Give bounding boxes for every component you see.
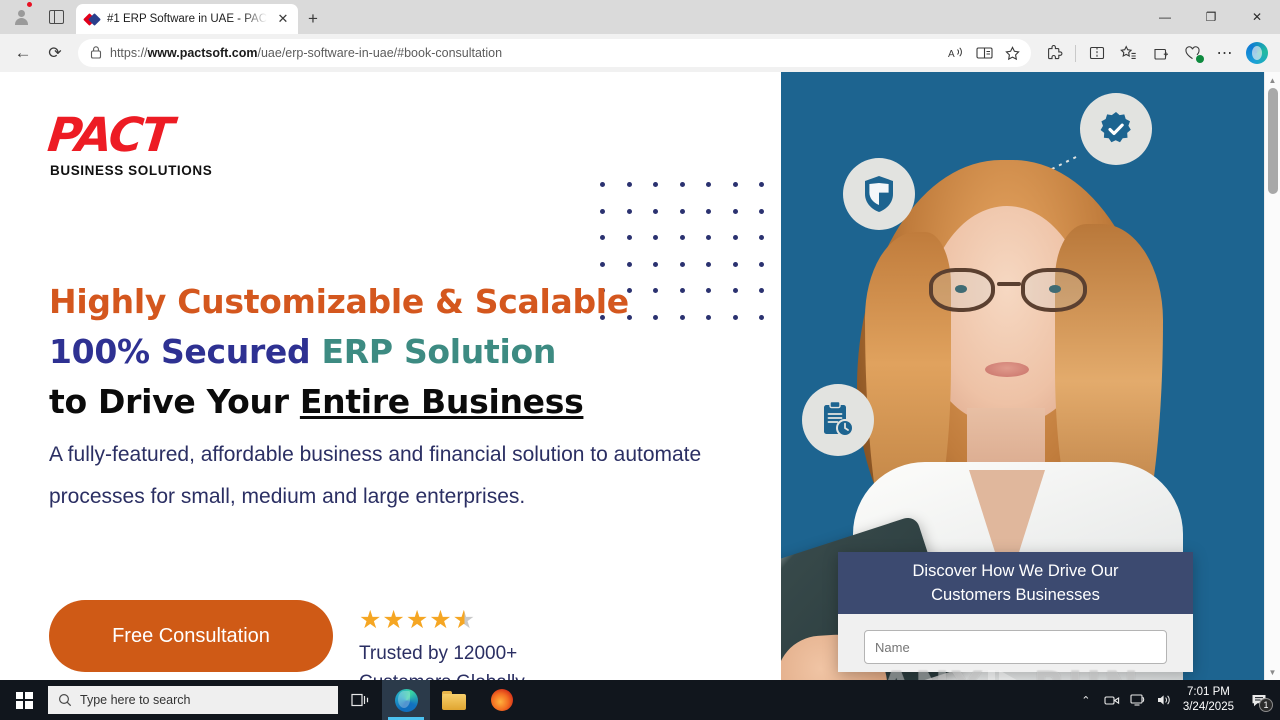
microsoft-edge-icon bbox=[395, 689, 418, 712]
headline-line-1: Highly Customizable & Scalable bbox=[49, 277, 749, 327]
settings-and-more-icon[interactable]: ⋯ bbox=[1209, 38, 1240, 68]
url-text: https://www.pactsoft.com/uae/erp-softwar… bbox=[110, 46, 935, 60]
browser-essentials-icon[interactable] bbox=[1177, 38, 1208, 68]
clock-date: 3/24/2025 bbox=[1183, 700, 1234, 715]
meet-now-icon[interactable] bbox=[1099, 680, 1125, 720]
vertical-tabs-icon bbox=[49, 10, 64, 24]
back-button[interactable]: ← bbox=[8, 38, 38, 68]
close-icon[interactable]: ✕ bbox=[274, 10, 292, 28]
scroll-down-arrow-icon[interactable]: ▼ bbox=[1265, 664, 1280, 680]
immersive-reader-icon[interactable] bbox=[971, 40, 997, 66]
tab-title: #1 ERP Software in UAE - PACT B bbox=[107, 13, 267, 25]
windows-taskbar: Type here to search ⌃ 7:01 PM 3/24/2025 … bbox=[0, 680, 1280, 720]
site-logo[interactable]: PACT BUSINESS SOLUTIONS bbox=[48, 112, 212, 178]
tab-actions-button[interactable] bbox=[40, 2, 72, 32]
show-hidden-icons-chevron[interactable]: ⌃ bbox=[1073, 680, 1099, 720]
maximize-button[interactable]: ❐ bbox=[1188, 0, 1234, 34]
overlay-card-body bbox=[838, 614, 1193, 672]
favorites-icon[interactable] bbox=[1113, 38, 1144, 68]
reload-button[interactable]: ⟳ bbox=[40, 38, 70, 68]
notification-center-button[interactable]: 1 bbox=[1242, 680, 1276, 720]
clipboard-clock-badge-icon bbox=[802, 384, 874, 456]
scroll-up-arrow-icon[interactable]: ▲ bbox=[1265, 72, 1280, 88]
consultation-overlay-card: Discover How We Drive OurCustomers Busin… bbox=[838, 552, 1193, 672]
free-consultation-button[interactable]: Free Consultation bbox=[49, 600, 333, 672]
essentials-status-dot bbox=[1196, 55, 1204, 63]
shield-badge-icon bbox=[843, 158, 915, 230]
svg-text:A: A bbox=[948, 49, 955, 60]
name-input[interactable] bbox=[864, 630, 1167, 664]
trust-text-line-2: Customers Globally bbox=[359, 668, 525, 680]
title-bar-left-controls bbox=[0, 0, 76, 34]
window-controls: — ❐ ✕ bbox=[1142, 0, 1280, 34]
profile-notification-dot bbox=[25, 0, 34, 9]
taskbar-clock[interactable]: 7:01 PM 3/24/2025 bbox=[1177, 685, 1242, 715]
rating-stars-full: ★★★★ bbox=[359, 606, 453, 634]
address-bar[interactable]: https://www.pactsoft.com/uae/erp-softwar… bbox=[78, 39, 1031, 67]
browser-toolbar: ← ⟳ https://www.pactsoft.com/uae/erp-sof… bbox=[0, 34, 1280, 72]
close-window-button[interactable]: ✕ bbox=[1234, 0, 1280, 34]
hero-headline: Highly Customizable & Scalable 100% Secu… bbox=[49, 277, 749, 427]
verified-check-badge-icon bbox=[1080, 93, 1152, 165]
profile-button[interactable] bbox=[4, 2, 38, 32]
taskbar-search-box[interactable]: Type here to search bbox=[48, 686, 338, 714]
headline-entire-business: Entire Business bbox=[300, 382, 584, 421]
system-tray: ⌃ 7:01 PM 3/24/2025 1 bbox=[1073, 680, 1280, 720]
notification-count-badge: 1 bbox=[1259, 698, 1273, 712]
task-view-icon[interactable] bbox=[338, 680, 382, 720]
browser-window: #1 ERP Software in UAE - PACT B ✕ + — ❐ … bbox=[0, 0, 1280, 680]
rating-star-half: ★ bbox=[453, 606, 476, 634]
taskbar-app-firefox[interactable] bbox=[478, 680, 526, 720]
volume-icon[interactable] bbox=[1151, 680, 1177, 720]
toolbar-divider bbox=[1075, 45, 1076, 62]
browser-title-bar: #1 ERP Software in UAE - PACT B ✕ + — ❐ … bbox=[0, 0, 1280, 34]
page-viewport: PACT BUSINESS SOLUTIONS Highly Customiza… bbox=[0, 72, 1280, 680]
rating-stars: ★★★★★ bbox=[359, 608, 525, 633]
firefox-icon bbox=[491, 689, 513, 711]
file-explorer-icon bbox=[442, 691, 466, 710]
headline-erp: ERP Solution bbox=[322, 332, 557, 371]
read-aloud-icon[interactable]: A bbox=[943, 40, 969, 66]
taskbar-app-edge[interactable] bbox=[382, 680, 430, 720]
hero-cta-row: Free Consultation ★★★★★ Trusted by 12000… bbox=[49, 600, 525, 680]
copilot-icon[interactable] bbox=[1241, 38, 1272, 68]
hero-visual-panel: Discover How We Drive OurCustomers Busin… bbox=[781, 72, 1264, 680]
headline-secured: 100% Secured bbox=[49, 332, 322, 371]
trust-text-line-1: Trusted by 12000+ bbox=[359, 639, 525, 668]
start-button[interactable] bbox=[0, 680, 48, 720]
pact-diamond-icon bbox=[85, 12, 100, 27]
avatar bbox=[14, 10, 29, 25]
overlay-heading-line-2: Customers Businesses bbox=[931, 586, 1100, 604]
clock-time: 7:01 PM bbox=[1183, 685, 1234, 700]
taskbar-app-file-explorer[interactable] bbox=[430, 680, 478, 720]
trust-block: ★★★★★ Trusted by 12000+ Customers Global… bbox=[359, 600, 525, 680]
browser-tab[interactable]: #1 ERP Software in UAE - PACT B ✕ bbox=[76, 4, 298, 34]
omnibox-actions: A bbox=[943, 40, 1025, 66]
web-page: PACT BUSINESS SOLUTIONS Highly Customiza… bbox=[0, 72, 1264, 680]
glasses bbox=[927, 268, 1089, 312]
windows-logo-icon bbox=[16, 692, 33, 709]
toolbar-icons: ⋯ bbox=[1039, 38, 1272, 68]
new-tab-button[interactable]: + bbox=[298, 4, 328, 34]
taskbar-search-placeholder: Type here to search bbox=[80, 693, 190, 707]
site-information-lock-icon[interactable] bbox=[90, 45, 102, 62]
split-screen-icon[interactable] bbox=[1081, 38, 1112, 68]
headline-line-3: to Drive Your Entire Business bbox=[49, 377, 749, 427]
scrollbar-thumb[interactable] bbox=[1268, 88, 1278, 194]
logo-wordmark: PACT bbox=[46, 112, 215, 159]
page-scrollbar[interactable]: ▲ ▼ bbox=[1264, 72, 1280, 680]
overlay-heading-line-1: Discover How We Drive Our bbox=[913, 562, 1119, 580]
overlay-card-heading: Discover How We Drive OurCustomers Busin… bbox=[838, 552, 1193, 614]
extensions-icon[interactable] bbox=[1039, 38, 1070, 68]
hero-subcopy: A fully-featured, affordable business an… bbox=[49, 434, 739, 518]
headline-line-2: 100% Secured ERP Solution bbox=[49, 327, 749, 377]
collections-icon[interactable] bbox=[1145, 38, 1176, 68]
add-favorite-icon[interactable] bbox=[999, 40, 1025, 66]
logo-tagline: BUSINESS SOLUTIONS bbox=[48, 163, 212, 178]
search-icon bbox=[58, 693, 72, 707]
minimize-button[interactable]: — bbox=[1142, 0, 1188, 34]
headline-drive: to Drive Your bbox=[49, 382, 300, 421]
network-icon[interactable] bbox=[1125, 680, 1151, 720]
